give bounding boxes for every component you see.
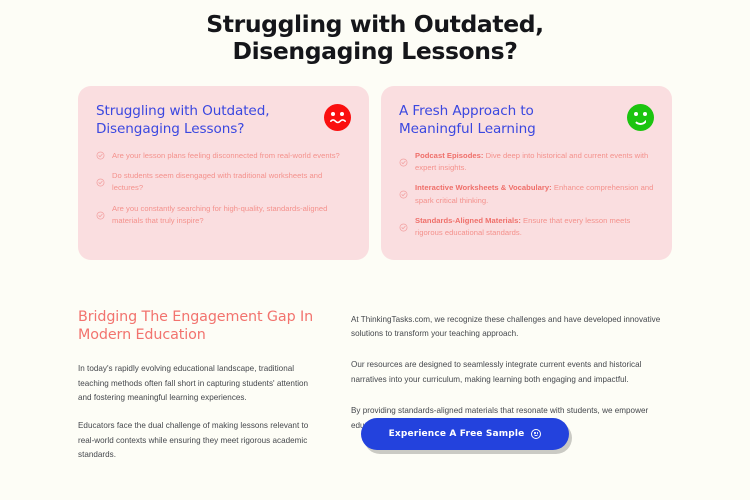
list-item-label: Standards-Aligned Materials: bbox=[415, 216, 521, 225]
worried-face-eye-left bbox=[331, 112, 335, 116]
card-problem-header: Struggling with Outdated, Disengaging Le… bbox=[96, 103, 351, 139]
list-item-body: Do students seem disengaged with traditi… bbox=[112, 171, 322, 192]
card-solution: A Fresh Approach to Meaningful Learning bbox=[381, 86, 672, 260]
paragraph: In today's rapidly evolving educational … bbox=[78, 362, 321, 405]
list-item: Do students seem disengaged with traditi… bbox=[96, 170, 351, 195]
check-circle-icon bbox=[399, 158, 408, 167]
list-item: Interactive Worksheets & Vocabulary: Enh… bbox=[399, 182, 654, 207]
list-item-body: Are you constantly searching for high-qu… bbox=[112, 204, 327, 225]
list-item-text: Interactive Worksheets & Vocabulary: Enh… bbox=[415, 182, 654, 207]
check-circle-icon bbox=[96, 178, 105, 187]
card-solution-bullets: Podcast Episodes: Dive deep into histori… bbox=[399, 150, 654, 240]
experience-free-sample-button[interactable]: Experience A Free Sample bbox=[361, 418, 570, 450]
worried-face-icon bbox=[324, 104, 351, 131]
smiley-face-mouth bbox=[534, 434, 538, 437]
list-item: Standards-Aligned Materials: Ensure that… bbox=[399, 215, 654, 240]
card-problem: Struggling with Outdated, Disengaging Le… bbox=[78, 86, 369, 260]
check-circle-icon bbox=[399, 190, 408, 199]
list-item: Are you constantly searching for high-qu… bbox=[96, 203, 351, 228]
check-circle-icon bbox=[96, 211, 105, 220]
list-item-text: Are you constantly searching for high-qu… bbox=[112, 203, 351, 228]
section-title-line-1: Bridging The Engagement Gap In bbox=[78, 309, 313, 325]
cards-row: Struggling with Outdated, Disengaging Le… bbox=[0, 86, 750, 260]
card-solution-title-line-2: Meaningful Learning bbox=[399, 121, 536, 139]
smiley-face-icon bbox=[627, 104, 654, 131]
paragraph: At ThinkingTasks.com, we recognize these… bbox=[351, 313, 672, 342]
smiley-face-icon bbox=[531, 429, 541, 439]
list-item: Are your lesson plans feeling disconnect… bbox=[96, 150, 351, 162]
worried-face-mouth bbox=[330, 119, 346, 124]
list-item-text: Do students seem disengaged with traditi… bbox=[112, 170, 351, 195]
list-item-text: Podcast Episodes: Dive deep into histori… bbox=[415, 150, 654, 175]
paragraph: Our resources are designed to seamlessly… bbox=[351, 358, 672, 387]
list-item-text: Are your lesson plans feeling disconnect… bbox=[112, 150, 340, 162]
list-item-text: Standards-Aligned Materials: Ensure that… bbox=[415, 215, 654, 240]
card-problem-title: Struggling with Outdated, Disengaging Le… bbox=[96, 103, 269, 139]
landing-page: Struggling with Outdated, Disengaging Le… bbox=[0, 0, 750, 500]
list-item: Podcast Episodes: Dive deep into histori… bbox=[399, 150, 654, 175]
cta-label: Experience A Free Sample bbox=[389, 429, 525, 439]
card-problem-title-line-1: Struggling with Outdated, bbox=[96, 103, 269, 119]
list-item-label: Interactive Worksheets & Vocabulary: bbox=[415, 183, 552, 192]
cta-row: Experience A Free Sample bbox=[0, 418, 750, 450]
page-title: Struggling with Outdated, Disengaging Le… bbox=[0, 11, 750, 66]
card-problem-title-line-2: Disengaging Lessons? bbox=[96, 121, 269, 139]
worried-face-eye-right bbox=[340, 112, 344, 116]
smiley-face-mouth bbox=[633, 116, 648, 125]
page-title-line-1: Struggling with Outdated, bbox=[206, 10, 543, 38]
section-title-line-2: Modern Education bbox=[78, 326, 321, 344]
card-solution-header: A Fresh Approach to Meaningful Learning bbox=[399, 103, 654, 139]
section-title: Bridging The Engagement Gap In Modern Ed… bbox=[78, 308, 321, 345]
check-circle-icon bbox=[96, 151, 105, 160]
list-item-body: Are your lesson plans feeling disconnect… bbox=[112, 151, 340, 160]
card-solution-title-line-1: A Fresh Approach to bbox=[399, 103, 534, 119]
card-solution-title: A Fresh Approach to Meaningful Learning bbox=[399, 103, 536, 139]
page-title-line-2: Disengaging Lessons? bbox=[0, 38, 750, 65]
check-circle-icon bbox=[399, 223, 408, 232]
hero-section: Struggling with Outdated, Disengaging Le… bbox=[0, 0, 750, 66]
list-item-label: Podcast Episodes: bbox=[415, 151, 483, 160]
card-problem-bullets: Are your lesson plans feeling disconnect… bbox=[96, 150, 351, 227]
